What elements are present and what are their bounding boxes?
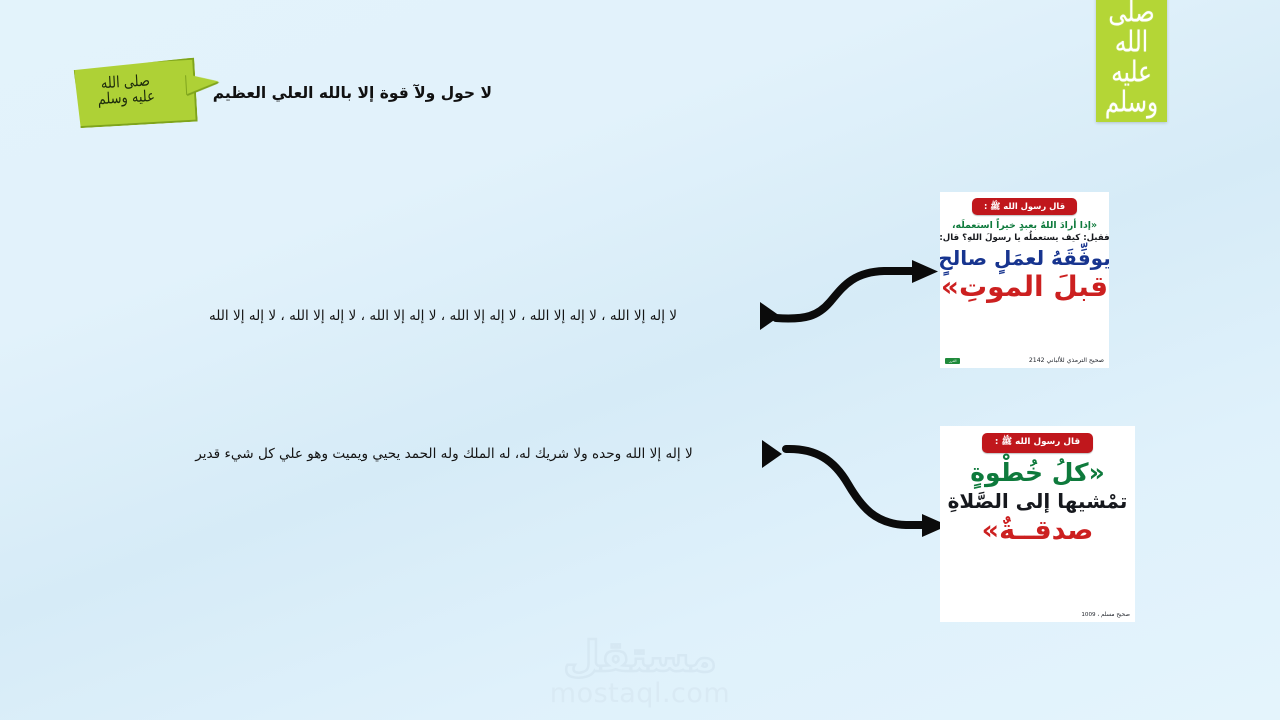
hadith-badge: الدرر xyxy=(945,358,960,364)
hadith-card-header: قال رسول الله ﷺ : xyxy=(982,433,1093,453)
bullet-text: لا إله إلا الله ، لا إله إلا الله ، لا إ… xyxy=(132,308,758,324)
hadith-card-footer: صحيح الترمذي للألباني 2142 الدرر xyxy=(940,357,1109,368)
bullet-row: لا إله إلا الله ، لا إله إلا الله ، لا إ… xyxy=(132,302,780,330)
hadith-source: صحيح الترمذي للألباني 2142 xyxy=(1029,357,1104,364)
watermark-latin-text: mostaql.com xyxy=(0,680,1280,707)
hadith-line: «كلُ خُطْوةٍ xyxy=(970,460,1105,486)
hadith-line: يوفِّقَهُ لعمَلٍ صالحٍ xyxy=(940,248,1109,269)
hadith-line: فقيل: كيف يستعملُه يا رسولَ اللهِ؟ قال: xyxy=(940,234,1109,243)
hadith-line: صدقــةٌ» xyxy=(982,517,1094,545)
hadith-card-header: قال رسول الله ﷺ : xyxy=(972,198,1077,215)
hadith-line: تمْشيها إلى الصَّلاةِ xyxy=(948,491,1128,512)
bullet-text: لا إله إلا الله وحده ولا شريك له، له الم… xyxy=(132,446,760,462)
corner-banner: صلى الله عليه وسلم xyxy=(1096,0,1167,122)
page-title: لا حول ولآ قوة إلا بالله العلي العظيم xyxy=(236,84,492,102)
arrow-curve-down-icon xyxy=(782,432,952,542)
triangle-right-icon xyxy=(762,440,782,468)
bullet-row: لا إله إلا الله وحده ولا شريك له، له الم… xyxy=(132,440,782,468)
watermark: مستقل mostaql.com xyxy=(0,636,1280,707)
hadith-card-footer: صحيح مسلم ، 1009 xyxy=(940,612,1135,622)
arrow-curve-up-icon xyxy=(772,258,942,328)
hadith-card: قال رسول الله ﷺ : «إذا أرادَ اللهُ بعبدٍ… xyxy=(940,192,1109,368)
slide-canvas: صلى الله عليه وسلم صلى الله عليه وسلم لا… xyxy=(0,0,1280,720)
hadith-line: قبلَ الموتِ» xyxy=(941,272,1108,301)
corner-banner-calligraphy: صلى الله عليه وسلم xyxy=(1096,0,1167,118)
hadith-line: «إذا أرادَ اللهُ بعبدٍ خيراً استعملَه، xyxy=(952,221,1097,231)
watermark-arabic-text: مستقل xyxy=(0,636,1280,678)
speech-bubble: صلى الله عليه وسلم xyxy=(72,58,197,129)
hadith-source: صحيح مسلم ، 1009 xyxy=(1081,612,1130,618)
hadith-card: قال رسول الله ﷺ : «كلُ خُطْوةٍ تمْشيها إ… xyxy=(940,426,1135,622)
speech-bubble-calligraphy: صلى الله عليه وسلم xyxy=(95,73,157,108)
